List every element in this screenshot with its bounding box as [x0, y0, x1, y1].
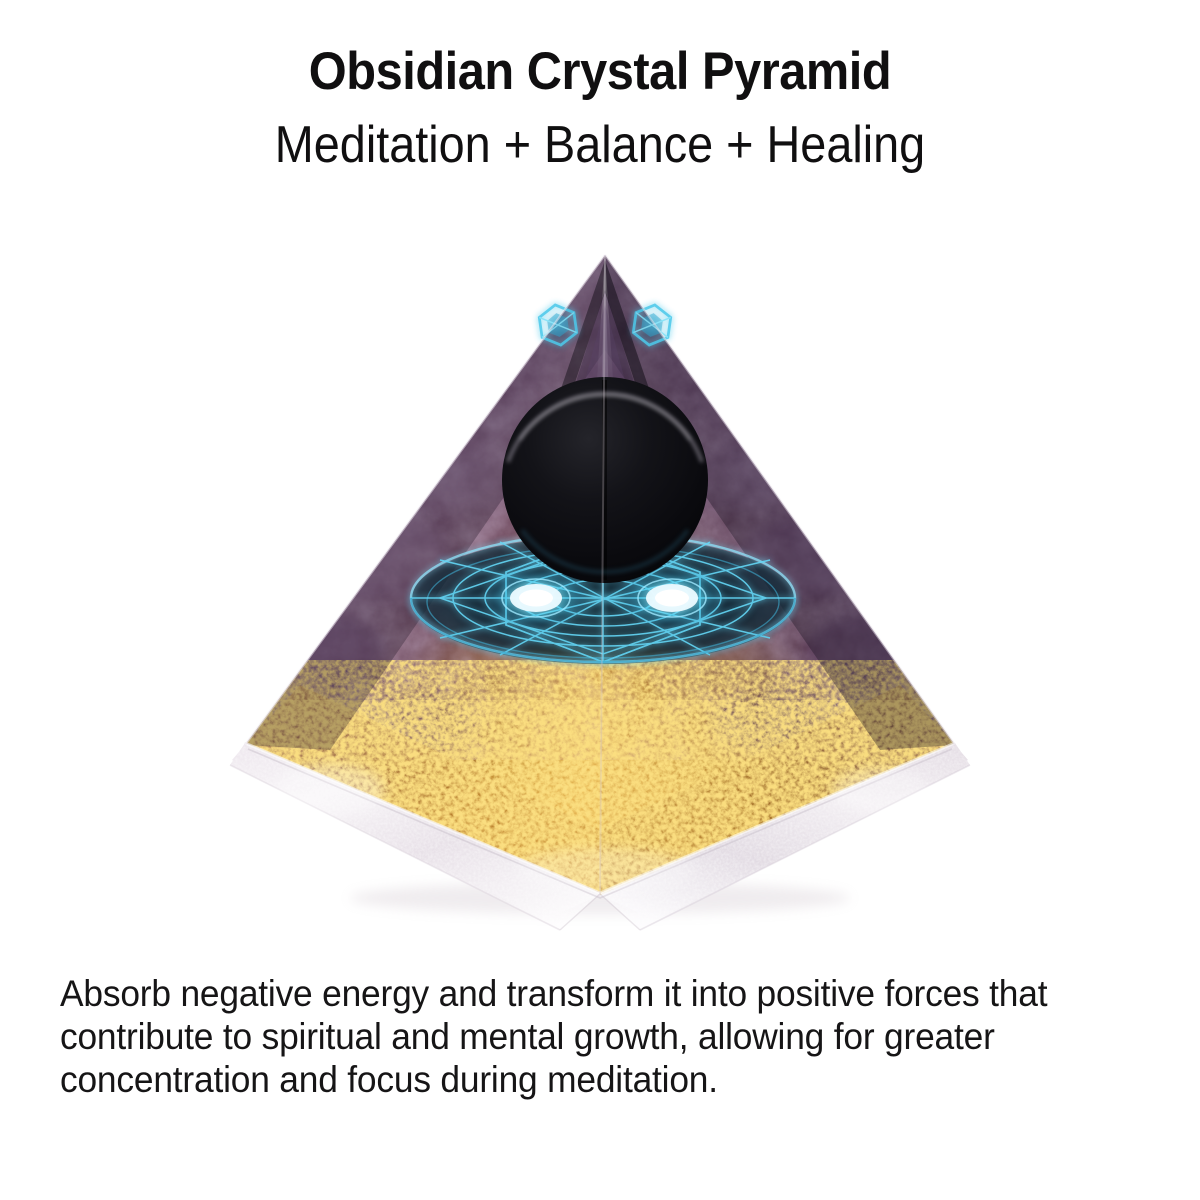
page-title: Obsidian Crystal Pyramid	[48, 42, 1152, 102]
product-description: Absorb negative energy and transform it …	[60, 972, 1115, 1101]
page-subtitle: Meditation + Balance + Healing	[60, 114, 1140, 176]
product-image	[0, 230, 1200, 940]
heading-block: Obsidian Crystal Pyramid Meditation + Ba…	[0, 42, 1200, 177]
product-card: Obsidian Crystal Pyramid Meditation + Ba…	[0, 0, 1200, 1200]
obsidian-sphere	[502, 377, 708, 583]
orgone-pyramid-illustration	[0, 230, 1200, 940]
